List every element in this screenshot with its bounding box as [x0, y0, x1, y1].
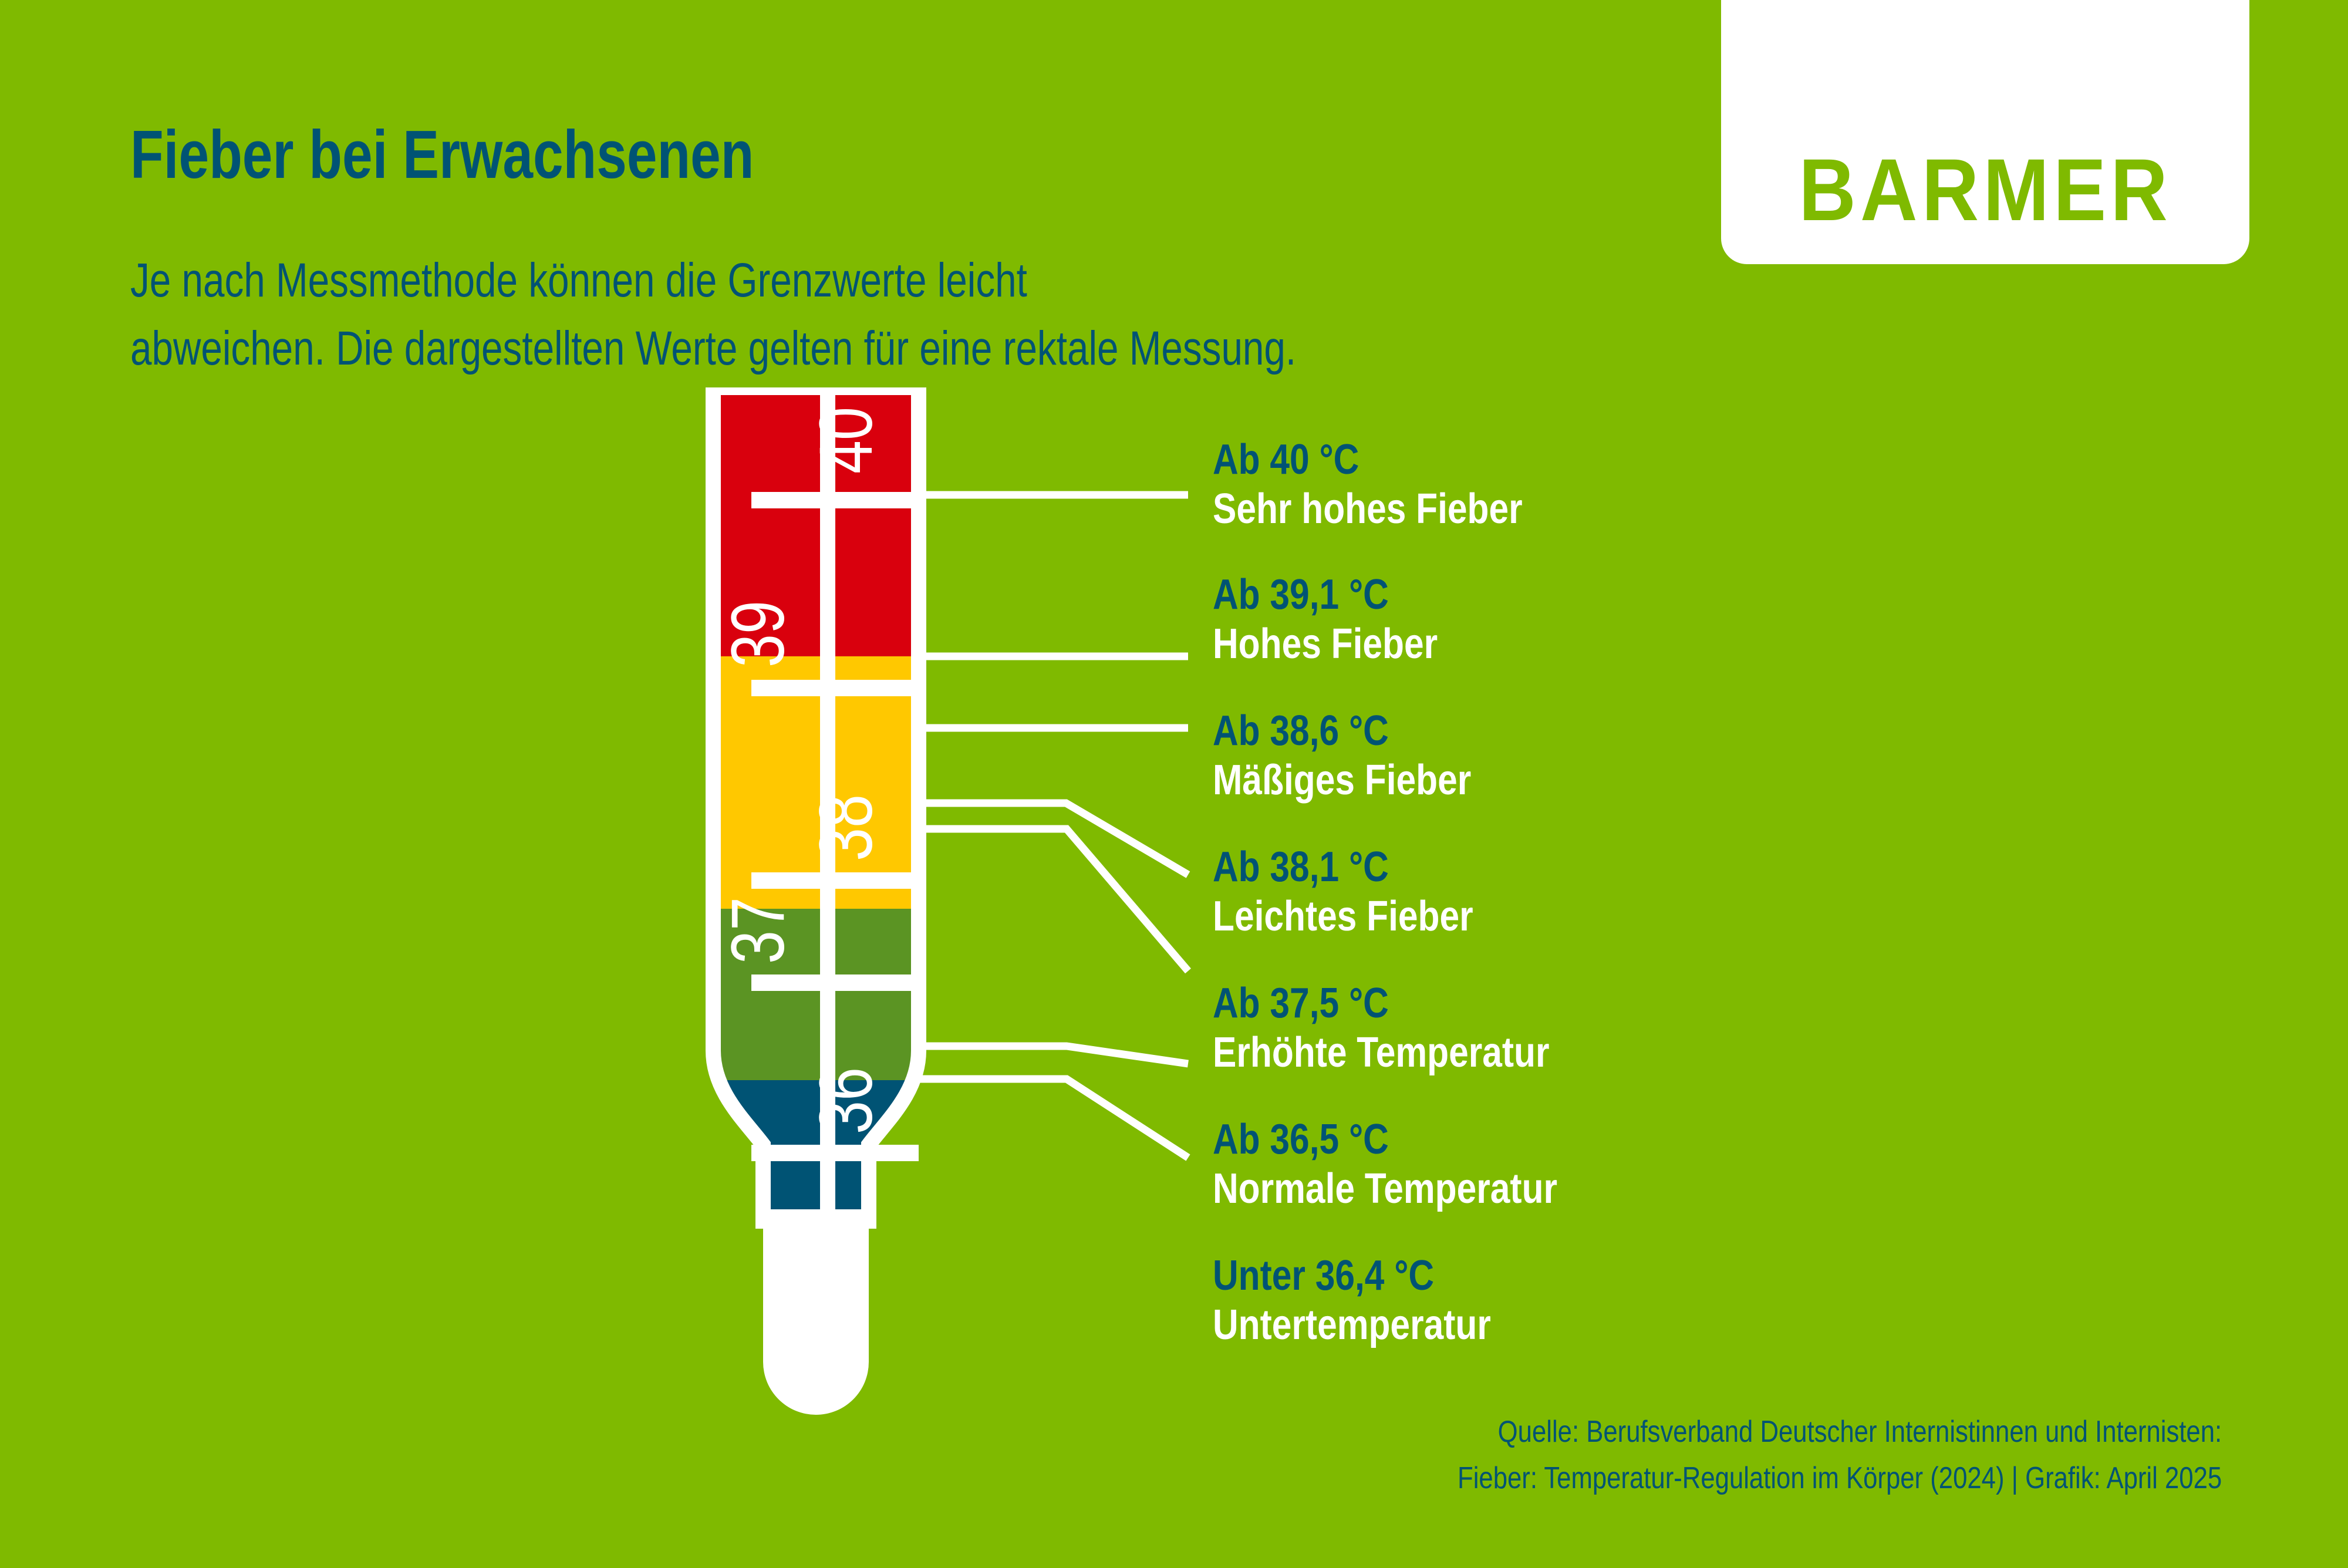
legend-label: Sehr hohes Fieber: [1213, 485, 1523, 534]
infographic-canvas: BARMER Fieber bei Erwachsenen Je nach Me…: [0, 0, 2348, 1568]
barmer-logo: BARMER: [1721, 0, 2249, 264]
tick-40: [751, 492, 919, 508]
page-subtitle: Je nach Messmethode können die Grenzwert…: [130, 247, 1296, 383]
legend-item-leichtes-fieber: Ab 38,1 °C Leichtes Fieber: [1213, 843, 1523, 941]
page-title: Fieber bei Erwachsenen: [130, 115, 754, 194]
tick-37: [751, 974, 919, 991]
legend-label: Untertemperatur: [1213, 1301, 1491, 1350]
legend-threshold: Ab 37,5 °C: [1213, 979, 1550, 1029]
legend-threshold: Ab 38,1 °C: [1213, 843, 1473, 892]
legend-threshold: Ab 38,6 °C: [1213, 707, 1471, 756]
legend-item-hohes-fieber: Ab 39,1 °C Hohes Fieber: [1213, 571, 1480, 669]
legend-threshold: Ab 36,5 °C: [1213, 1115, 1557, 1165]
tick-36: [751, 1145, 919, 1161]
logo-wordmark: BARMER: [1799, 146, 2172, 234]
thermometer-graphic: 40 39 38 37 36: [693, 387, 963, 1526]
legend-item-sehr-hohes-fieber: Ab 40 °C Sehr hohes Fieber: [1213, 436, 1581, 534]
scale-label-38: 38: [804, 794, 888, 861]
legend-item-maessiges-fieber: Ab 38,6 °C Mäßiges Fieber: [1213, 707, 1520, 805]
tick-39: [751, 680, 919, 696]
legend-threshold: Ab 40 °C: [1213, 436, 1523, 485]
legend-label: Mäßiges Fieber: [1213, 756, 1471, 805]
legend-threshold: Unter 36,4 °C: [1213, 1252, 1491, 1301]
tick-38: [751, 872, 919, 889]
legend-label: Leichtes Fieber: [1213, 892, 1473, 942]
scale-label-36: 36: [804, 1067, 888, 1134]
source-note: Quelle: Berufsverband Deutscher Internis…: [1458, 1409, 2222, 1502]
scale-label-40: 40: [804, 407, 888, 474]
legend-threshold: Ab 39,1 °C: [1213, 571, 1438, 620]
scale-label-37: 37: [716, 897, 800, 964]
legend-label: Normale Temperatur: [1213, 1165, 1557, 1214]
legend-label: Hohes Fieber: [1213, 620, 1438, 669]
legend-item-untertemperatur: Unter 36,4 °C Untertemperatur: [1213, 1252, 1544, 1350]
legend-item-normale-temperatur: Ab 36,5 °C Normale Temperatur: [1213, 1115, 1623, 1213]
legend-item-erhoehte-temperatur: Ab 37,5 °C Erhöhte Temperatur: [1213, 979, 1614, 1077]
thermometer-bulb: [763, 1209, 869, 1415]
scale-label-39: 39: [716, 601, 800, 667]
legend-label: Erhöhte Temperatur: [1213, 1029, 1550, 1078]
